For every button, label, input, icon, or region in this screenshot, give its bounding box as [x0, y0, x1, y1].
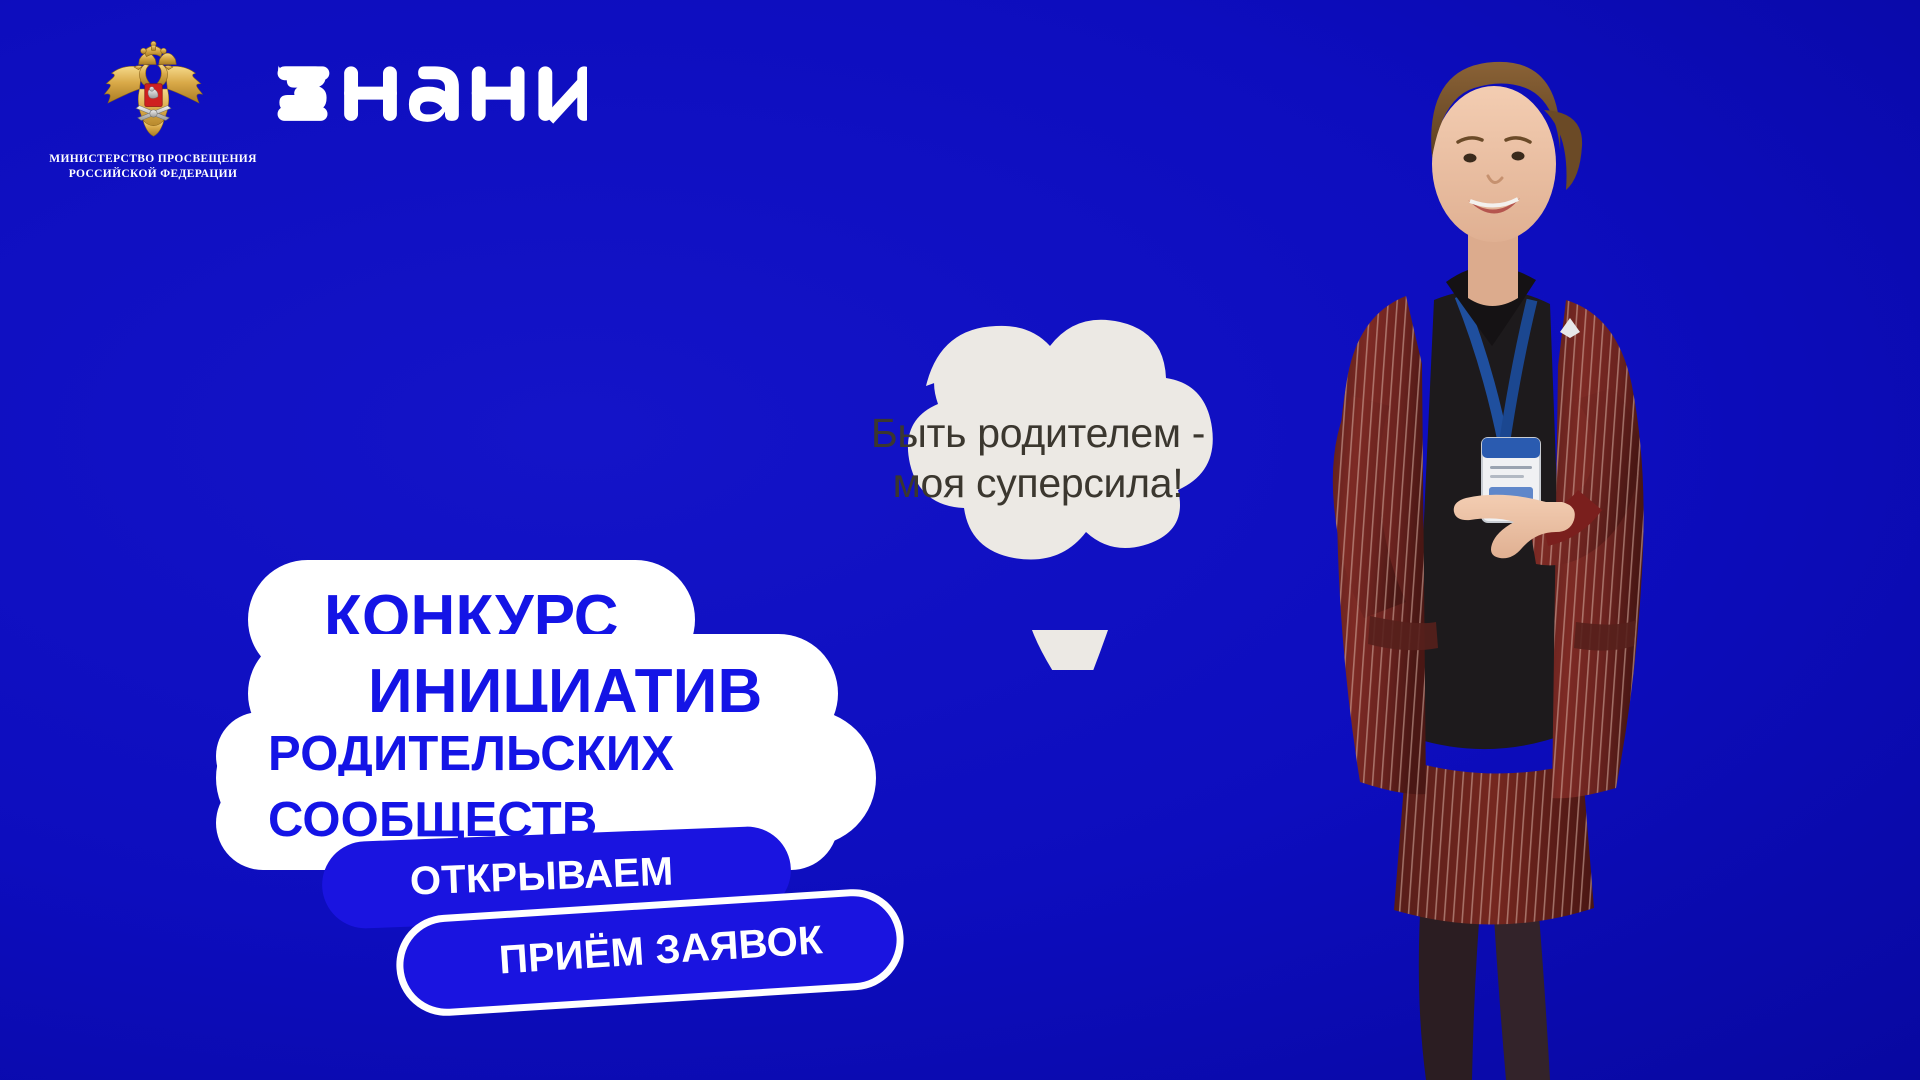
speech-bubble-text: Быть родителем - моя суперсила! — [838, 408, 1238, 508]
russian-double-headed-eagle-emblem — [101, 40, 206, 145]
promo-poster: МИНИСТЕРСТВО ПРОСВЕЩЕНИЯ РОССИЙСКОЙ ФЕДЕ… — [0, 0, 1920, 1080]
ministry-logo-block: МИНИСТЕРСТВО ПРОСВЕЩЕНИЯ РОССИЙСКОЙ ФЕДЕ… — [38, 40, 268, 181]
znanie-wordmark-logo — [272, 58, 587, 132]
ministry-caption: МИНИСТЕРСТВО ПРОСВЕЩЕНИЯ РОССИЙСКОЙ ФЕДЕ… — [38, 152, 268, 181]
woman-presenter-pointing-photo — [1210, 0, 1770, 1080]
cloud-speech-bubble: Быть родителем - моя суперсила! — [808, 300, 1258, 670]
